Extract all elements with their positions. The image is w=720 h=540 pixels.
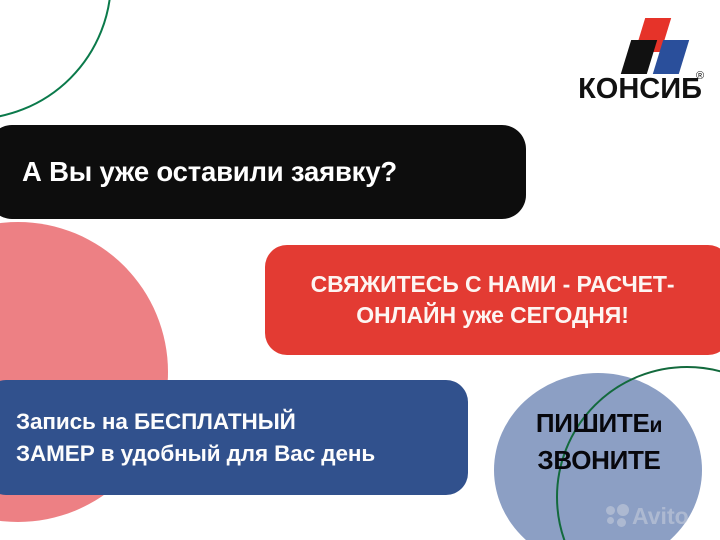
measurement-banner-line-1: Запись на БЕСПЛАТНЫЙ (16, 409, 296, 434)
measurement-banner: Запись на БЕСПЛАТНЫЙ ЗАМЕР в удобный для… (0, 380, 468, 495)
question-banner: А Вы уже оставили заявку? (0, 125, 526, 219)
callout-line-1: ПИШИТЕ (536, 408, 650, 438)
callout-conjunction: и (650, 414, 663, 437)
measurement-banner-line-2: ЗАМЕР в удобный для Вас день (16, 441, 375, 466)
avito-dots-icon (606, 504, 630, 528)
logo-wordmark: КОНСИБ (570, 74, 710, 104)
advertisement-canvas: КОНСИБ ® А Вы уже оставили заявку? СВЯЖИ… (0, 0, 720, 540)
brand-logo: КОНСИБ ® (570, 18, 710, 104)
avito-watermark-label: Avito (632, 504, 689, 528)
contact-banner-line-2: ОНЛАЙН уже СЕГОДНЯ! (356, 302, 629, 328)
question-banner-text: А Вы уже оставили заявку? (22, 156, 397, 188)
registered-trademark-symbol: ® (696, 70, 704, 82)
logo-parallelogram-mark-icon (616, 18, 688, 74)
contact-banner-text: СВЯЖИТЕСЬ С НАМИ - РАСЧЕТ- ОНЛАЙН уже СЕ… (311, 269, 675, 331)
logo-parallelogram-black-icon (621, 40, 657, 74)
avito-watermark: Avito (606, 500, 712, 532)
callout-line-2: ЗВОНИТЕ (537, 445, 660, 475)
call-to-action-callout: ПИШИТЕи ЗВОНИТЕ (494, 406, 704, 478)
contact-banner-line-1: СВЯЖИТЕСЬ С НАМИ - РАСЧЕТ- (311, 271, 675, 297)
contact-banner: СВЯЖИТЕСЬ С НАМИ - РАСЧЕТ- ОНЛАЙН уже СЕ… (265, 245, 720, 355)
measurement-banner-text: Запись на БЕСПЛАТНЫЙ ЗАМЕР в удобный для… (16, 406, 375, 470)
green-ring-decoration-top (0, 0, 112, 120)
